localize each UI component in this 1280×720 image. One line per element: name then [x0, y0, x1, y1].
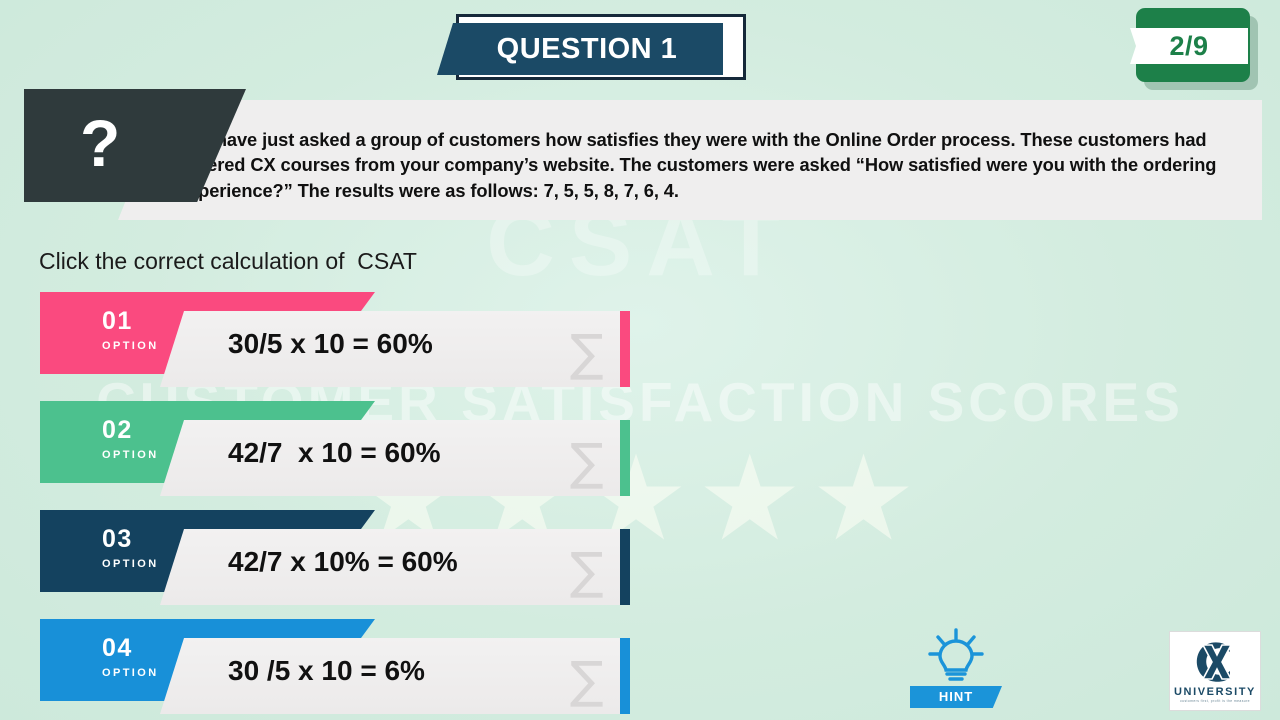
- option-edge-03: [620, 529, 630, 605]
- option-answer-02: 42/7 x 10 = 60%: [228, 437, 441, 469]
- option-edge-01: [620, 311, 630, 387]
- question-mark-glyph: ?: [80, 110, 120, 176]
- option-answer-04: 30 /5 x 10 = 6%: [228, 655, 425, 687]
- progress-badge-ribbon: 2/9: [1130, 28, 1248, 64]
- option-answer-03: 42/7 x 10% = 60%: [228, 546, 458, 578]
- option-edge-04: [620, 638, 630, 714]
- question-text: You have just asked a group of customers…: [178, 127, 1254, 203]
- cx-university-logo: UNIVERSITY customers first, profit is th…: [1169, 631, 1261, 711]
- cx-monogram-icon: [1183, 639, 1247, 685]
- logo-tagline: customers first, profit is the measure: [1180, 699, 1250, 703]
- sigma-icon: ∑: [570, 655, 604, 705]
- sigma-icon: ∑: [570, 546, 604, 596]
- instruction-text: Click the correct calculation of CSAT: [39, 248, 417, 275]
- option-row-02[interactable]: 02 OPTION 42/7 x 10 = 60% ∑: [0, 401, 680, 499]
- lightbulb-icon: [926, 628, 986, 684]
- progress-counter: 2/9: [1169, 31, 1208, 62]
- option-row-04[interactable]: 04 OPTION 30 /5 x 10 = 6% ∑: [0, 619, 680, 717]
- logo-university-text: UNIVERSITY: [1174, 686, 1256, 698]
- sigma-icon: ∑: [570, 328, 604, 378]
- progress-badge: 2/9: [1136, 8, 1258, 90]
- question-title-banner: QUESTION 1: [437, 23, 723, 75]
- option-row-03[interactable]: 03 OPTION 42/7 x 10% = 60% ∑: [0, 510, 680, 608]
- hint-label[interactable]: HINT: [910, 686, 1002, 708]
- sigma-icon: ∑: [570, 437, 604, 487]
- quiz-slide: CSAT CUSTOMER SATISFACTION SCORES ★★★★★ …: [0, 0, 1280, 720]
- option-row-01[interactable]: 01 OPTION 30/5 x 10 = 60% ∑: [0, 292, 680, 390]
- option-edge-02: [620, 420, 630, 496]
- question-card: You have just asked a group of customers…: [118, 100, 1262, 220]
- hint-button[interactable]: HINT: [906, 628, 1006, 712]
- page-title: QUESTION 1: [483, 33, 678, 66]
- option-answer-01: 30/5 x 10 = 60%: [228, 328, 433, 360]
